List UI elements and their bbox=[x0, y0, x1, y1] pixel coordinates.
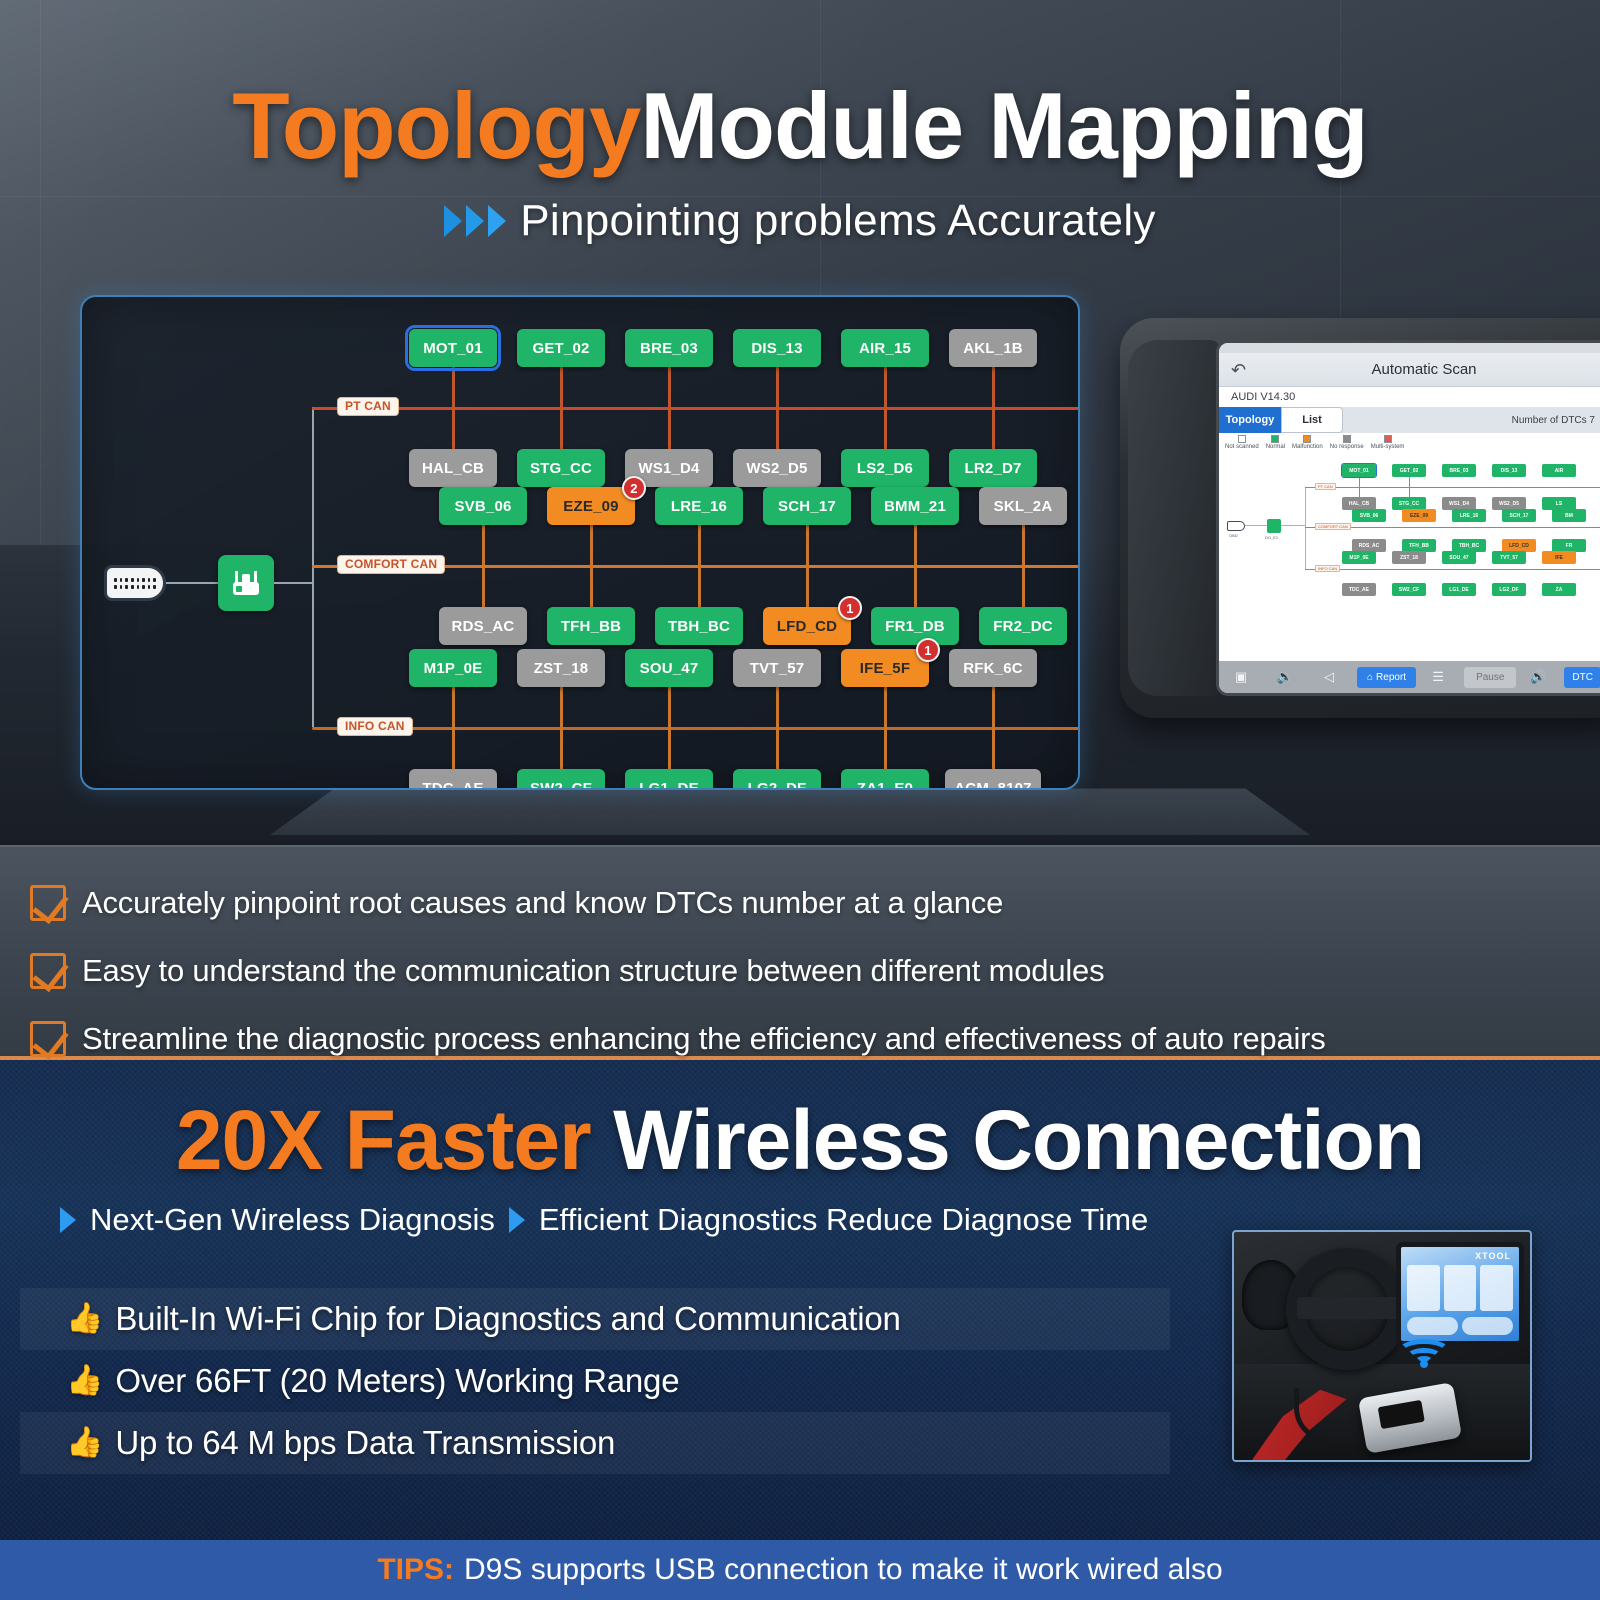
wireless-subtitle-1: Next-Gen Wireless Diagnosis bbox=[90, 1202, 495, 1238]
topology-canvas: PT CAN COMFORT CAN INFO CAN bbox=[82, 297, 1078, 788]
module-node-ife-5f[interactable]: IFE_5F1 bbox=[841, 649, 929, 687]
obd-to-vci-link bbox=[166, 582, 218, 584]
tab-list[interactable]: List bbox=[1281, 407, 1343, 433]
spur-line bbox=[452, 367, 455, 409]
legend-item-no-response: No response bbox=[1330, 435, 1364, 459]
triple-arrow-icon bbox=[444, 205, 506, 237]
module-label: SOU_47 bbox=[640, 660, 699, 677]
mini-bus-label-info: INFO CAN bbox=[1315, 565, 1340, 572]
module-node-tvt-57[interactable]: TVT_57 bbox=[733, 649, 821, 687]
app-top-bar: ↶ Automatic Scan bbox=[1219, 353, 1600, 387]
module-label: SVB_06 bbox=[454, 498, 511, 515]
tablet-screen: ↶ Automatic Scan AUDI V14.30 Topology Li… bbox=[1219, 343, 1600, 693]
check-item-label: Accurately pinpoint root causes and know… bbox=[82, 885, 1003, 921]
desk-surface bbox=[270, 789, 1310, 835]
wireless-bullet-label: Up to 64 M bps Data Transmission bbox=[115, 1424, 615, 1462]
module-label: TFH_BB bbox=[561, 618, 621, 635]
module-label: ACM_8107 bbox=[954, 780, 1031, 791]
checkbox-check-icon bbox=[30, 1021, 66, 1057]
mini-module-node[interactable]: ZST_18 bbox=[1392, 551, 1426, 564]
spur-line bbox=[452, 687, 455, 729]
module-node-stg-cc[interactable]: STG_CC bbox=[517, 449, 605, 487]
spur-line bbox=[1022, 525, 1025, 567]
module-label: LRE_16 bbox=[671, 498, 727, 515]
module-node-fr1-db[interactable]: FR1_DB bbox=[871, 607, 959, 645]
module-label: TVT_57 bbox=[750, 660, 805, 677]
vci-dongle-icon bbox=[218, 555, 274, 611]
steering-wheel bbox=[1286, 1248, 1408, 1370]
module-node-sch-17[interactable]: SCH_17 bbox=[763, 487, 851, 525]
bus-label-info-can: INFO CAN bbox=[337, 717, 413, 736]
mini-spur bbox=[1359, 477, 1360, 487]
report-button[interactable]: ⌂Report bbox=[1357, 667, 1416, 688]
mini-bus-pt bbox=[1305, 487, 1600, 488]
legend-label: Not scanned bbox=[1225, 444, 1259, 450]
check-item-label: Easy to understand the communication str… bbox=[82, 953, 1104, 989]
spur-line bbox=[992, 687, 995, 729]
module-node-eze-09[interactable]: EZE_092 bbox=[547, 487, 635, 525]
module-node-rfk-6c[interactable]: RFK_6C bbox=[949, 649, 1037, 687]
wireless-bullet: 👍 Over 66FT (20 Meters) Working Range bbox=[20, 1350, 1170, 1412]
mini-module-node[interactable]: LG1_DE bbox=[1442, 583, 1476, 596]
spur-line bbox=[884, 367, 887, 409]
legend-item-normal: Normal bbox=[1266, 435, 1285, 459]
spur-line bbox=[1022, 565, 1025, 607]
module-label: FR1_DB bbox=[885, 618, 945, 635]
tablet-card bbox=[1444, 1265, 1477, 1311]
module-node-acm-8107[interactable]: ACM_8107 bbox=[945, 769, 1041, 790]
tablet-topology-canvas: OBD DO_E1 PT CAN COMFORT CAN INFO CAN bbox=[1219, 459, 1600, 629]
module-node-mot-01[interactable]: MOT_01 bbox=[409, 329, 497, 367]
brand-logo: XTOOL bbox=[1475, 1251, 1511, 1261]
legend-label: Normal bbox=[1266, 444, 1285, 450]
dtc-count-badge: 2 bbox=[622, 476, 646, 500]
mini-spur bbox=[1359, 487, 1360, 497]
volume-down-icon[interactable]: 🔉 bbox=[1263, 669, 1307, 685]
wireless-title-accent: 20X Faster bbox=[176, 1093, 591, 1187]
module-node-fr2-dc[interactable]: FR2_DC bbox=[979, 607, 1067, 645]
view-tab-row: Topology List Number of DTCs 7 bbox=[1219, 407, 1600, 433]
tips-bar: TIPS: D9S supports USB connection to mak… bbox=[0, 1540, 1600, 1600]
mini-module-node[interactable]: SCH_17 bbox=[1502, 509, 1536, 522]
module-node-sw2-cf[interactable]: SW2_CF bbox=[517, 769, 605, 790]
wireless-subtitle-row: Next-Gen Wireless Diagnosis Efficient Di… bbox=[60, 1202, 1148, 1238]
spur-line bbox=[992, 727, 995, 769]
spur-line bbox=[698, 525, 701, 567]
page-subtitle: Pinpointing problems Accurately bbox=[520, 196, 1155, 246]
mini-module-node[interactable]: EZE_09 bbox=[1402, 509, 1436, 522]
module-node-tdc-ae[interactable]: TDC_AE bbox=[409, 769, 497, 790]
module-label: RDS_AC bbox=[452, 618, 515, 635]
mini-spur bbox=[1409, 487, 1410, 497]
module-label: HAL_CB bbox=[422, 460, 484, 477]
vehicle-version-label: AUDI V14.30 bbox=[1219, 387, 1600, 407]
module-node-akl-1b[interactable]: AKL_1B bbox=[949, 329, 1037, 367]
spur-line bbox=[560, 407, 563, 449]
spur-line bbox=[560, 367, 563, 409]
module-label: WS2_D5 bbox=[746, 460, 807, 477]
legend-item-not-scanned: Not scanned bbox=[1225, 435, 1259, 459]
mini-module-node[interactable]: MOT_01 bbox=[1342, 464, 1376, 477]
spur-line bbox=[914, 525, 917, 567]
tablet-device: ↶ Automatic Scan AUDI V14.30 Topology Li… bbox=[1120, 318, 1600, 738]
mini-obd-icon bbox=[1227, 521, 1245, 531]
check-item-label: Streamline the diagnostic process enhanc… bbox=[82, 1021, 1326, 1057]
wireless-bullet-label: Over 66FT (20 Meters) Working Range bbox=[115, 1362, 679, 1400]
mini-link bbox=[1281, 525, 1305, 526]
module-node-m1p-0e[interactable]: M1P_0E bbox=[409, 649, 497, 687]
spur-line bbox=[590, 525, 593, 567]
module-label: WS1_D4 bbox=[638, 460, 699, 477]
volume-up-icon[interactable]: 🔊 bbox=[1516, 669, 1560, 685]
module-node-dis-13[interactable]: DIS_13 bbox=[733, 329, 821, 367]
subtitle-row: Pinpointing problems Accurately bbox=[0, 196, 1600, 246]
bus-line-info-can bbox=[312, 727, 1080, 730]
car-interior-photo: XTOOL bbox=[1232, 1230, 1532, 1462]
spur-line bbox=[884, 407, 887, 449]
wifi-signal-icon bbox=[1396, 1324, 1452, 1366]
spur-line bbox=[914, 565, 917, 607]
check-item: Easy to understand the communication str… bbox=[30, 937, 1600, 1005]
module-node-lg2-df[interactable]: LG2_DF bbox=[733, 769, 821, 790]
module-node-tfh-bb[interactable]: TFH_BB bbox=[547, 607, 635, 645]
dtc-count-label: Number of DTCs 7 bbox=[1512, 407, 1595, 433]
page-title-main: Module Mapping bbox=[640, 73, 1367, 178]
module-node-lfd-cd[interactable]: LFD_CD1 bbox=[763, 607, 851, 645]
spur-line bbox=[668, 687, 671, 729]
pause-button[interactable]: Pause bbox=[1464, 667, 1516, 688]
tips-text: D9S supports USB connection to make it w… bbox=[464, 1553, 1223, 1587]
wireless-section: 20X Faster Wireless Connection Next-Gen … bbox=[0, 1060, 1600, 1540]
module-label: GET_02 bbox=[532, 340, 589, 357]
module-node-za1-e0[interactable]: ZA1_E0 bbox=[841, 769, 929, 790]
thumbs-up-icon: 👍 bbox=[66, 1366, 103, 1396]
mini-spur bbox=[1409, 477, 1410, 487]
home-icon: ⌂ bbox=[1367, 672, 1373, 683]
wireless-bullet: 👍 Built-In Wi-Fi Chip for Diagnostics an… bbox=[20, 1288, 1170, 1350]
checkbox-check-icon bbox=[30, 953, 66, 989]
module-node-lr2-d7[interactable]: LR2_D7 bbox=[949, 449, 1037, 487]
module-label: LS2_D6 bbox=[857, 460, 913, 477]
module-label: SCH_17 bbox=[778, 498, 836, 515]
arrow-right-icon bbox=[509, 1207, 525, 1233]
mini-module-node[interactable]: LG2_DF bbox=[1492, 583, 1526, 596]
tablet-card-row bbox=[1407, 1265, 1513, 1311]
spur-line bbox=[560, 727, 563, 769]
bus-label-pt-can: PT CAN bbox=[337, 397, 399, 416]
mini-module-node[interactable]: BRE_03 bbox=[1442, 464, 1476, 477]
mini-module-node[interactable]: SVB_06 bbox=[1352, 509, 1386, 522]
module-label: TBH_BC bbox=[668, 618, 730, 635]
spur-line bbox=[992, 407, 995, 449]
tablet-bottom-bar: ▣ 🔉 ◁ ⌂Report ☰ Pause 🔊 DTC bbox=[1219, 661, 1600, 693]
module-node-ls2-d6[interactable]: LS2_D6 bbox=[841, 449, 929, 487]
mini-obd-label: OBD bbox=[1229, 533, 1238, 538]
mini-module-node[interactable]: BM bbox=[1552, 509, 1586, 522]
thumbs-up-icon: 👍 bbox=[66, 1428, 103, 1458]
module-label: STG_CC bbox=[530, 460, 592, 477]
mini-vci-icon bbox=[1267, 519, 1281, 533]
mini-module-node[interactable]: LRE_16 bbox=[1452, 509, 1486, 522]
module-label: LG1_DE bbox=[639, 780, 699, 791]
module-label: TDC_AE bbox=[422, 780, 483, 791]
obd-connector-icon bbox=[104, 565, 166, 601]
spur-line bbox=[776, 367, 779, 409]
module-node-tbh-bc[interactable]: TBH_BC bbox=[655, 607, 743, 645]
legend-label: Malfunction bbox=[1292, 444, 1323, 450]
wireless-title-main: Wireless Connection bbox=[613, 1093, 1424, 1187]
mini-link bbox=[1245, 525, 1267, 526]
mini-module-node[interactable]: TDC_AE bbox=[1342, 583, 1376, 596]
module-label: M1P_0E bbox=[424, 660, 483, 677]
mini-vertical-trunk bbox=[1305, 487, 1306, 569]
bus-label-comfort-can: COMFORT CAN bbox=[337, 555, 445, 574]
module-node-svb-06[interactable]: SVB_06 bbox=[439, 487, 527, 525]
spur-line bbox=[884, 687, 887, 729]
module-node-hal-cb[interactable]: HAL_CB bbox=[409, 449, 497, 487]
mini-module-node[interactable]: TVT_57 bbox=[1492, 551, 1526, 564]
module-label: AIR_15 bbox=[859, 340, 911, 357]
dtc-button[interactable]: DTC bbox=[1564, 667, 1600, 688]
spur-line bbox=[452, 727, 455, 769]
module-label: RFK_6C bbox=[963, 660, 1023, 677]
legend-label: No response bbox=[1330, 444, 1364, 450]
module-label: BRE_03 bbox=[640, 340, 698, 357]
module-node-sou-47[interactable]: SOU_47 bbox=[625, 649, 713, 687]
module-node-lre-16[interactable]: LRE_16 bbox=[655, 487, 743, 525]
module-node-ws2-d5[interactable]: WS2_D5 bbox=[733, 449, 821, 487]
spur-line bbox=[884, 727, 887, 769]
bus-line-pt-can bbox=[312, 407, 1080, 410]
spur-line bbox=[668, 407, 671, 449]
dtc-count-badge: 1 bbox=[838, 596, 862, 620]
module-label: BMM_21 bbox=[884, 498, 946, 515]
module-label: DIS_13 bbox=[751, 340, 802, 357]
mini-vci-label: DO_E1 bbox=[1265, 535, 1278, 540]
module-label: FR2_DC bbox=[993, 618, 1053, 635]
module-node-zst-18[interactable]: ZST_18 bbox=[517, 649, 605, 687]
android-status-bar bbox=[1219, 343, 1600, 353]
dtc-count-badge: 1 bbox=[916, 638, 940, 662]
module-node-skl-2a[interactable]: SKL_2A bbox=[979, 487, 1067, 525]
wireless-bullet-label: Built-In Wi-Fi Chip for Diagnostics and … bbox=[115, 1300, 900, 1338]
tablet-pill bbox=[1462, 1317, 1513, 1335]
tablet-grip bbox=[1128, 340, 1220, 696]
back-triangle-icon[interactable]: ◁ bbox=[1307, 669, 1351, 685]
tab-topology[interactable]: Topology bbox=[1219, 407, 1281, 433]
spur-line bbox=[776, 407, 779, 449]
mini-bus-info bbox=[1305, 569, 1600, 570]
mini-module-node[interactable]: SW2_CF bbox=[1392, 583, 1426, 596]
spur-line bbox=[992, 367, 995, 409]
tips-label: TIPS: bbox=[377, 1553, 454, 1587]
spur-line bbox=[776, 687, 779, 729]
module-label: LFD_CD bbox=[777, 618, 837, 635]
module-label: ZA1_E0 bbox=[857, 780, 913, 791]
spur-line bbox=[482, 565, 485, 607]
tablet-card bbox=[1480, 1265, 1513, 1311]
checkbox-check-icon bbox=[30, 885, 66, 921]
spur-line bbox=[560, 687, 563, 729]
vci-to-trunk-link bbox=[274, 582, 314, 584]
module-node-bre-03[interactable]: BRE_03 bbox=[625, 329, 713, 367]
hero-section: TopologyModule Mapping Pinpointing probl… bbox=[0, 0, 1600, 845]
module-label: SKL_2A bbox=[994, 498, 1053, 515]
module-label: AKL_1B bbox=[963, 340, 1023, 357]
module-node-air-15[interactable]: AIR_15 bbox=[841, 329, 929, 367]
mini-module-node[interactable]: SOU_47 bbox=[1442, 551, 1476, 564]
screenshot-icon[interactable]: ▣ bbox=[1219, 669, 1263, 685]
page-title-accent: Topology bbox=[232, 73, 640, 178]
module-label: LR2_D7 bbox=[964, 460, 1021, 477]
module-node-get-02[interactable]: GET_02 bbox=[517, 329, 605, 367]
mini-module-node[interactable]: AIR bbox=[1542, 464, 1576, 477]
mini-module-node[interactable]: IFE bbox=[1542, 551, 1576, 564]
spur-line bbox=[590, 565, 593, 607]
module-label: SW2_CF bbox=[530, 780, 592, 791]
module-node-bmm-21[interactable]: BMM_21 bbox=[871, 487, 959, 525]
tablet-screen-frame: ↶ Automatic Scan AUDI V14.30 Topology Li… bbox=[1216, 340, 1600, 696]
legend-item-multi-system: Multi-system bbox=[1371, 435, 1405, 459]
mini-bus-label-comfort: COMFORT CAN bbox=[1315, 523, 1351, 530]
spur-line bbox=[668, 367, 671, 409]
spur-line bbox=[668, 727, 671, 769]
module-label: LG2_DF bbox=[748, 780, 807, 791]
mini-bus-label-pt: PT CAN bbox=[1315, 483, 1336, 490]
spur-line bbox=[698, 565, 701, 607]
module-label: IFE_5F bbox=[860, 660, 910, 677]
spur-line bbox=[806, 525, 809, 567]
report-button-label: Report bbox=[1376, 672, 1406, 683]
spur-line bbox=[482, 525, 485, 567]
module-label: MOT_01 bbox=[423, 340, 483, 357]
mini-module-node[interactable]: DIS_13 bbox=[1492, 464, 1526, 477]
thumbs-up-icon: 👍 bbox=[66, 1304, 103, 1334]
wireless-title: 20X Faster Wireless Connection bbox=[0, 1092, 1600, 1189]
app-screen-title: Automatic Scan bbox=[1219, 361, 1600, 378]
spur-line bbox=[776, 727, 779, 769]
spur-line bbox=[452, 407, 455, 449]
status-legend: Not scanned Normal Malfunction No respon… bbox=[1219, 433, 1600, 459]
wireless-bullet: 👍 Up to 64 M bps Data Transmission bbox=[20, 1412, 1170, 1474]
mini-module-node[interactable]: GET_02 bbox=[1392, 464, 1426, 477]
page-title: TopologyModule Mapping bbox=[0, 72, 1600, 180]
module-node-lg1-de[interactable]: LG1_DE bbox=[625, 769, 713, 790]
wireless-subtitle-2: Efficient Diagnostics Reduce Diagnose Ti… bbox=[539, 1202, 1148, 1238]
tablet-card bbox=[1407, 1265, 1440, 1311]
hamburger-menu-icon[interactable]: ☰ bbox=[1416, 669, 1460, 685]
feature-check-list: Accurately pinpoint root causes and know… bbox=[0, 845, 1600, 1060]
mini-module-node[interactable]: ZA bbox=[1542, 583, 1576, 596]
module-label: ZST_18 bbox=[534, 660, 589, 677]
legend-label: Multi-system bbox=[1371, 444, 1405, 450]
topology-panel: PT CAN COMFORT CAN INFO CAN bbox=[80, 295, 1080, 790]
module-node-rds-ac[interactable]: RDS_AC bbox=[439, 607, 527, 645]
wireless-bullet-list: 👍 Built-In Wi-Fi Chip for Diagnostics an… bbox=[20, 1288, 1170, 1474]
legend-item-malfunction: Malfunction bbox=[1292, 435, 1323, 459]
mini-module-node[interactable]: M1P_0E bbox=[1342, 551, 1376, 564]
module-label: EZE_09 bbox=[563, 498, 618, 515]
spur-line bbox=[806, 565, 809, 607]
arrow-right-icon bbox=[60, 1207, 76, 1233]
check-item: Accurately pinpoint root causes and know… bbox=[30, 869, 1600, 937]
